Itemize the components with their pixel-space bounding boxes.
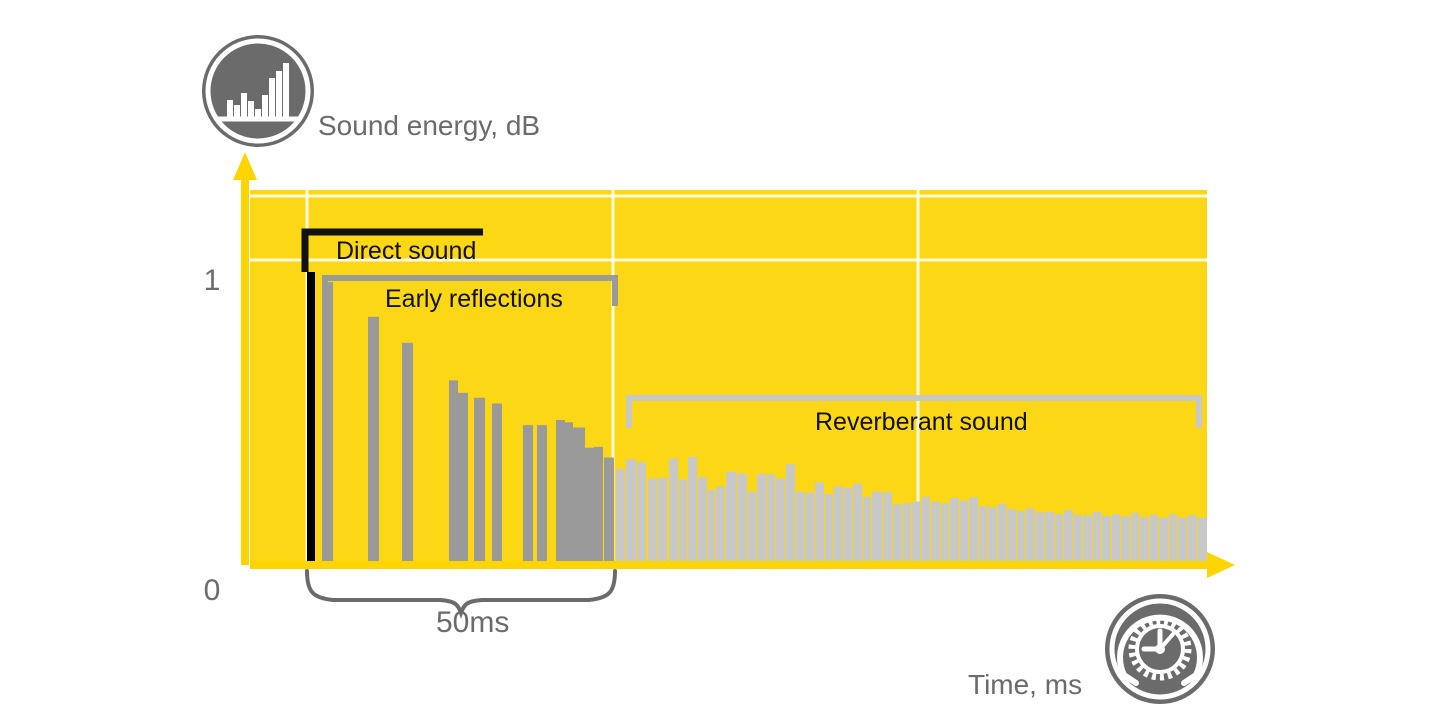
reverberant-bar <box>1198 518 1207 561</box>
early-reflection-bar <box>585 448 594 561</box>
reverberant-bar <box>1083 515 1092 561</box>
reverberant-bar <box>805 493 814 561</box>
reverberant-bar <box>903 503 911 561</box>
reverberant-bar <box>616 469 625 561</box>
early-reflection-bar <box>573 427 585 561</box>
reverberant-bar <box>658 478 667 561</box>
reverberant-bar <box>1102 516 1111 561</box>
reverberant-bar <box>960 501 968 561</box>
reverberant-bar <box>688 457 697 561</box>
band-label-reverberant: Reverberant sound <box>815 408 1028 436</box>
diagram-canvas: Direct sound Early reflections Reverbera… <box>0 0 1440 720</box>
band-label-direct: Direct sound <box>336 237 476 265</box>
early-reflection-bar <box>604 458 614 561</box>
reverberant-bar <box>648 479 657 561</box>
early-reflection-bar <box>368 317 379 561</box>
reverberant-bar <box>912 501 921 561</box>
reverberant-bar <box>679 480 687 561</box>
reverberant-bar <box>748 492 756 561</box>
early-reflection-bar <box>322 282 333 561</box>
reverberant-bar <box>1007 509 1016 561</box>
reverberant-bar <box>726 472 737 561</box>
early-reflection-bar <box>594 447 603 561</box>
reverberant-bar <box>767 474 775 561</box>
reverberant-bar <box>872 492 882 561</box>
early-reflection-bar <box>537 425 547 561</box>
reverberant-bar <box>815 482 824 561</box>
reverberant-bar <box>1112 514 1120 561</box>
reverberant-bar <box>883 492 892 561</box>
reverberant-bar <box>698 477 707 561</box>
reverberant-bar <box>1150 515 1158 561</box>
reverberant-bar <box>637 462 646 561</box>
direct-sound-bar <box>307 272 315 561</box>
early-reflection-bar <box>492 403 502 561</box>
reverberant-bar <box>1131 513 1139 561</box>
early-reflection-bar <box>565 422 573 561</box>
early-reflection-bar <box>523 425 533 561</box>
reverberant-bar <box>922 497 930 561</box>
reverberant-bar <box>1188 515 1197 561</box>
reverberant-bar <box>1140 517 1149 561</box>
reverberant-bar <box>757 474 766 561</box>
reverberant-bar <box>786 464 795 561</box>
reverberant-bar <box>834 486 843 561</box>
reverberant-bar <box>825 494 833 561</box>
reverberant-bar <box>1093 512 1101 561</box>
reverberant-bar <box>1036 512 1044 561</box>
early-reflection-bar <box>556 420 565 561</box>
reverberant-bar <box>1064 510 1073 561</box>
band-label-early: Early reflections <box>385 285 563 313</box>
sound-level-meter-icon <box>202 35 314 147</box>
stopwatch-clock-icon <box>1105 594 1215 704</box>
early-reflection-bar <box>474 398 485 561</box>
reverberant-bar <box>931 502 940 561</box>
reverberant-bar <box>1178 518 1187 561</box>
reverberant-bar <box>969 497 978 561</box>
reverberant-bar <box>941 503 949 561</box>
fifty-ms-label: 50ms <box>436 606 509 639</box>
reverberant-bar <box>1121 516 1130 561</box>
reverberant-bar <box>708 490 715 561</box>
reverberant-bar <box>716 486 725 561</box>
reverberant-bar <box>1169 514 1177 561</box>
direct-sound-bar-rect <box>307 272 315 561</box>
reverberant-bar <box>988 507 997 561</box>
reverberant-bar <box>1017 511 1025 561</box>
reverberant-bar <box>863 497 871 561</box>
early-reflection-bar <box>458 393 468 561</box>
reverberant-bar <box>1045 512 1054 561</box>
reverberant-bar <box>669 458 678 561</box>
y-axis-title: Sound energy, dB <box>318 110 540 141</box>
reverberant-bar <box>998 504 1006 561</box>
reverberant-bar <box>1055 514 1063 561</box>
reverberant-bar <box>1159 518 1168 561</box>
y-tick-1: 1 <box>204 264 221 297</box>
reverberant-bar <box>738 474 747 561</box>
reverberant-bar <box>796 492 804 561</box>
reverberant-bar <box>626 459 636 561</box>
reverberant-bar <box>950 498 959 561</box>
y-tick-0: 0 <box>204 574 221 607</box>
reverberant-bar <box>979 506 987 561</box>
reverberant-bar <box>1026 508 1035 561</box>
x-axis-title: Time, ms <box>968 669 1082 700</box>
reverberant-bar <box>1074 515 1082 561</box>
early-reflection-bar <box>402 343 413 561</box>
reverberant-bar <box>853 484 862 561</box>
reverberant-bar <box>844 488 852 561</box>
reverberant-bar <box>893 504 902 561</box>
reverberant-bar <box>776 479 785 561</box>
early-reflection-bar <box>449 380 458 561</box>
